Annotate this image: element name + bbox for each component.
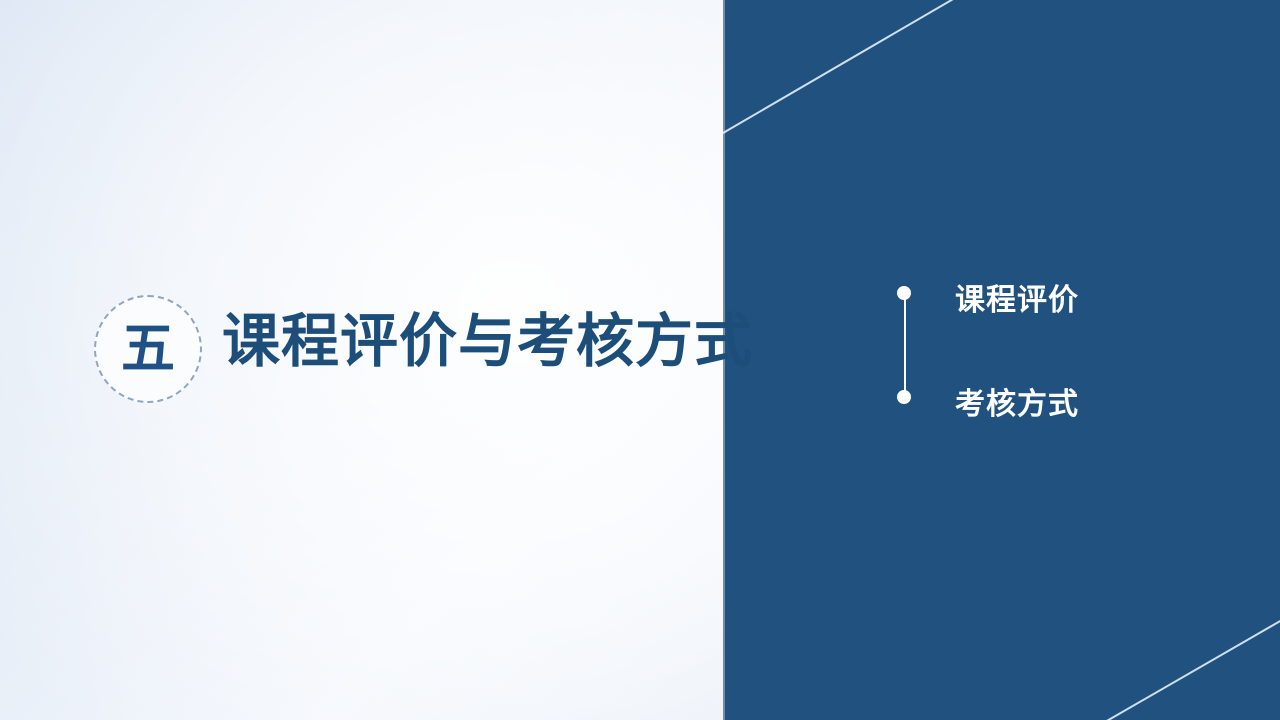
section-number-badge: 五	[94, 295, 202, 403]
page-title: 课程评价与考核方式	[222, 308, 753, 375]
agenda-item-label: 课程评价	[955, 275, 1079, 319]
bullet-dot-icon	[897, 286, 911, 300]
diagonal-line-bottom	[1105, 620, 1280, 720]
agenda-list: 课程评价 考核方式	[901, 270, 1241, 414]
slide-root: 课程评价 考核方式 五 课程评价与考核方式	[0, 0, 1280, 720]
right-accent-panel: 课程评价 考核方式	[723, 0, 1280, 720]
bullet-dot-icon	[897, 390, 911, 404]
agenda-item-1[interactable]: 课程评价	[901, 270, 1241, 374]
agenda-item-label: 考核方式	[955, 379, 1079, 423]
diagonal-line-top	[723, 0, 955, 133]
section-number-text: 五	[121, 322, 175, 376]
agenda-item-2[interactable]: 考核方式	[901, 374, 1241, 414]
